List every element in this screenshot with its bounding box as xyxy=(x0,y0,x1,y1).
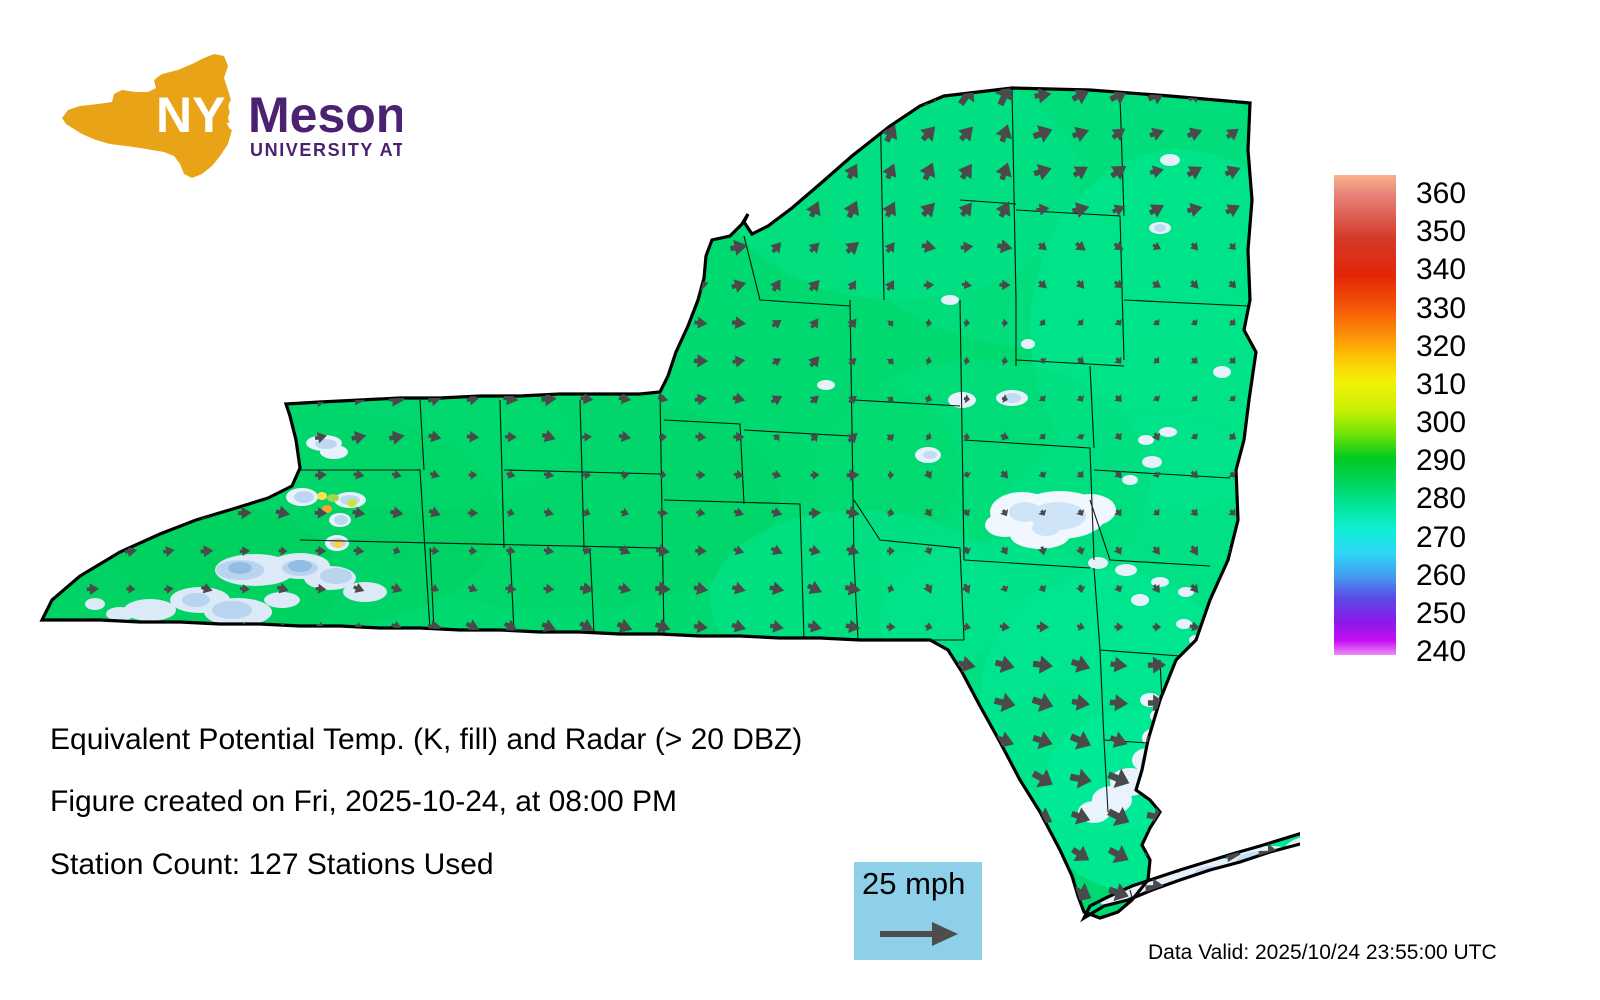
wind-arrow xyxy=(615,656,635,675)
wind-arrow xyxy=(1184,807,1205,827)
wind-arrow xyxy=(311,352,331,371)
wind-arrow xyxy=(540,276,559,294)
nys-mesonet-logo: NYS Mesonet UNIVERSITY AT ALBANY xyxy=(52,52,402,182)
wind-arrow xyxy=(1297,809,1300,830)
wind-arrow xyxy=(1182,691,1208,715)
wind-arrow xyxy=(575,236,598,258)
wind-arrow xyxy=(276,658,291,672)
wind-arrow xyxy=(615,200,635,219)
wind-arrow xyxy=(538,161,560,182)
wind-arrow xyxy=(497,841,525,868)
wind-arrow xyxy=(161,505,177,520)
wind-arrow xyxy=(498,196,525,222)
wind-arrow xyxy=(503,353,520,369)
wind-arrow xyxy=(47,505,63,521)
wind-arrow xyxy=(727,83,752,106)
wind-arrow xyxy=(916,729,941,753)
wind-arrow xyxy=(311,276,331,295)
wind-arrow xyxy=(881,656,900,675)
wind-arrow xyxy=(839,119,867,147)
wind-arrow xyxy=(461,235,485,258)
wind-arrow xyxy=(1182,766,1209,792)
wind-arrow xyxy=(612,83,637,107)
wind-arrow xyxy=(420,157,450,185)
wind-arrow xyxy=(728,654,750,675)
wind-arrow xyxy=(840,82,866,109)
wind-arrow xyxy=(611,879,638,906)
wind-arrow xyxy=(383,195,412,223)
wind-arrow xyxy=(803,767,827,791)
wind-arrow xyxy=(270,196,297,221)
wind-arrow xyxy=(613,691,636,714)
wind-arrow xyxy=(87,773,99,785)
wind-arrow xyxy=(87,697,100,709)
wind-arrow xyxy=(503,657,518,672)
wind-arrow xyxy=(202,660,211,670)
wind-arrow xyxy=(234,389,256,410)
wind-arrow xyxy=(536,83,561,107)
wind-arrow xyxy=(990,879,1020,908)
wind-arrow xyxy=(578,276,596,293)
wind-arrow xyxy=(803,691,828,716)
wind-arrow xyxy=(1222,731,1244,752)
wind-arrow xyxy=(86,544,101,558)
figure-title: Equivalent Potential Temp. (K, fill) and… xyxy=(50,723,802,757)
wind-arrow xyxy=(234,237,255,257)
wind-arrow xyxy=(649,879,677,906)
wind-arrow xyxy=(39,193,71,225)
wind-arrow xyxy=(876,802,907,832)
wind-arrow xyxy=(688,82,714,107)
wind-arrow xyxy=(421,81,450,109)
colorbar-tick-290: 290 xyxy=(1416,446,1466,476)
wind-arrow xyxy=(727,691,751,715)
wind-arrow xyxy=(88,660,98,671)
colorbar-tick-250: 250 xyxy=(1416,599,1466,629)
wind-arrow xyxy=(85,429,101,444)
wind-arrow xyxy=(459,82,487,108)
wind-arrow xyxy=(1027,840,1058,871)
wind-arrow xyxy=(576,161,598,182)
wind-arrow xyxy=(426,694,444,711)
wind-arrow xyxy=(840,653,866,678)
wind-speed-legend-label: 25 mph xyxy=(862,866,965,902)
wind-arrow xyxy=(117,272,144,298)
wind-arrow xyxy=(575,122,599,144)
wind-arrow xyxy=(1028,878,1058,907)
wind-arrow xyxy=(311,694,330,713)
wind-arrow xyxy=(727,121,752,145)
wind-arrow xyxy=(840,766,867,792)
wind-arrow xyxy=(88,622,99,633)
wind-arrow xyxy=(81,311,105,334)
wind-arrow xyxy=(991,842,1019,868)
wind-arrow xyxy=(802,804,828,830)
wind-arrow-icon xyxy=(880,918,960,950)
wind-arrow xyxy=(1182,877,1206,900)
wind-arrow xyxy=(803,121,827,146)
wind-arrow xyxy=(161,468,176,482)
wind-arrow xyxy=(1297,877,1300,898)
wind-arrow xyxy=(876,79,907,110)
logo-mesonet-text: Mesonet xyxy=(248,87,402,143)
wind-arrow xyxy=(1222,810,1242,829)
wind-arrow xyxy=(540,314,558,331)
wind-arrow xyxy=(762,156,791,186)
wind-arrow xyxy=(878,766,905,792)
wind-arrow xyxy=(350,352,368,369)
wind-arrow xyxy=(918,692,941,714)
wind-arrow xyxy=(651,843,676,867)
wind-arrow xyxy=(804,654,826,675)
wind-arrow xyxy=(727,160,751,182)
wind-arrow xyxy=(1145,768,1169,791)
wind-arrow xyxy=(725,879,753,906)
wind-arrow xyxy=(118,235,143,259)
wind-arrow xyxy=(574,196,601,221)
wind-arrow xyxy=(427,353,444,369)
wind-arrow xyxy=(689,159,713,182)
wind-arrow xyxy=(81,235,105,259)
wind-arrow xyxy=(1223,880,1241,897)
wind-arrow xyxy=(238,697,252,710)
wind-arrow xyxy=(496,879,525,908)
wind-arrow xyxy=(426,277,444,294)
wind-arrow xyxy=(764,766,791,792)
wind-arrow xyxy=(386,313,407,333)
wind-speed-legend: 25 mph xyxy=(854,862,982,960)
wind-arrow xyxy=(195,235,220,259)
wind-arrow xyxy=(879,692,902,714)
wind-arrow xyxy=(1183,882,1207,905)
wind-arrow xyxy=(803,881,827,904)
wind-arrow xyxy=(464,353,481,369)
wind-arrow xyxy=(387,238,406,256)
wind-arrow xyxy=(1183,653,1208,677)
wind-arrow xyxy=(157,882,180,904)
wind-arrow xyxy=(764,804,790,829)
wind-arrow xyxy=(274,352,292,370)
wind-arrow xyxy=(538,654,560,675)
logo-subtitle: UNIVERSITY AT ALBANY xyxy=(250,140,402,160)
wind-arrow xyxy=(878,728,904,753)
wind-arrow xyxy=(724,841,753,869)
wind-arrow xyxy=(234,274,257,296)
wind-arrow xyxy=(198,428,216,445)
wind-arrow xyxy=(651,692,674,715)
wind-arrow xyxy=(540,353,557,369)
wind-arrow xyxy=(276,468,290,482)
wind-arrow xyxy=(656,278,671,292)
wind-arrow xyxy=(762,80,791,109)
wind-arrow xyxy=(538,693,559,714)
colorbar-tick-260: 260 xyxy=(1416,561,1466,591)
wind-arrow xyxy=(953,765,981,792)
wind-arrow xyxy=(501,238,521,257)
wind-arrow xyxy=(1222,769,1243,789)
wind-arrow xyxy=(613,122,636,144)
wind-arrow xyxy=(195,273,219,296)
wind-arrow xyxy=(424,123,446,144)
wind-arrow xyxy=(121,351,141,371)
wind-arrow xyxy=(1223,693,1244,713)
wind-arrow xyxy=(422,880,449,907)
wind-arrow xyxy=(576,654,598,675)
wind-arrow xyxy=(48,545,62,558)
wind-arrow xyxy=(728,768,750,789)
wind-arrow xyxy=(42,235,68,260)
wind-arrow xyxy=(537,198,560,220)
wind-arrow xyxy=(424,312,446,333)
station-count-label: Station Count: 127 Stations Used xyxy=(50,848,494,882)
wind-arrow xyxy=(388,656,406,674)
wind-arrow xyxy=(127,622,135,631)
wind-arrow xyxy=(156,273,182,298)
colorbar-tick-330: 330 xyxy=(1416,294,1466,324)
wind-arrow xyxy=(153,193,185,224)
wind-arrow xyxy=(426,656,444,673)
colorbar-tick-280: 280 xyxy=(1416,484,1466,514)
wind-arrow xyxy=(617,315,634,331)
wind-arrow xyxy=(764,120,790,146)
colorbar: 360350340330320310300290280270260250240 xyxy=(1334,175,1574,660)
wind-arrow xyxy=(536,121,561,144)
wind-arrow xyxy=(499,83,524,106)
wind-arrow xyxy=(349,314,368,333)
wind-arrow xyxy=(236,429,254,446)
wind-arrow xyxy=(237,467,254,483)
colorbar-tick-300: 300 xyxy=(1416,408,1466,438)
wind-arrow xyxy=(616,276,634,293)
wind-arrow xyxy=(579,315,596,331)
wind-arrow xyxy=(498,120,524,145)
colorbar-gradient xyxy=(1334,175,1396,655)
wind-arrow xyxy=(45,883,65,902)
wind-arrow xyxy=(274,277,291,293)
wind-arrow xyxy=(117,196,145,223)
wind-arrow xyxy=(158,350,180,372)
wind-arrow xyxy=(615,237,635,257)
wind-arrow xyxy=(652,199,674,220)
wind-arrow xyxy=(459,120,487,147)
wind-arrow xyxy=(163,697,176,709)
wind-arrow xyxy=(310,236,333,257)
wind-arrow xyxy=(234,312,256,334)
wind-arrow xyxy=(1226,621,1239,633)
wind-arrow xyxy=(200,468,215,482)
wind-arrow xyxy=(240,659,250,670)
wind-arrow xyxy=(195,312,219,335)
wind-arrow xyxy=(1183,809,1206,830)
wind-arrow xyxy=(44,312,67,334)
wind-arrow xyxy=(348,275,369,295)
wind-arrow xyxy=(161,430,176,444)
wind-arrow xyxy=(50,698,60,709)
wind-arrow xyxy=(691,655,711,675)
wind-arrow xyxy=(84,504,102,521)
wind-arrow xyxy=(347,235,372,259)
wind-arrow xyxy=(120,312,143,334)
wind-arrow xyxy=(310,312,333,334)
wind-arrow xyxy=(689,198,713,221)
wind-arrow xyxy=(460,881,485,906)
wind-arrow xyxy=(953,727,981,754)
logo-nys-text: NYS xyxy=(156,87,259,143)
wind-arrow xyxy=(271,312,294,335)
wind-arrow xyxy=(764,880,791,907)
wind-arrow xyxy=(461,198,484,220)
colorbar-tick-350: 350 xyxy=(1416,217,1466,247)
wind-arrow xyxy=(686,878,716,908)
wind-arrow xyxy=(198,391,215,407)
wind-arrow xyxy=(534,878,564,908)
wind-arrow xyxy=(83,351,103,371)
wind-arrow xyxy=(46,390,64,407)
wind-arrow xyxy=(503,316,518,330)
wind-arrow xyxy=(800,80,830,110)
wind-arrow xyxy=(78,271,107,300)
figure-created-timestamp: Figure created on Fri, 2025-10-24, at 08… xyxy=(50,785,677,819)
wind-arrow xyxy=(766,693,787,713)
wind-arrow xyxy=(347,882,371,905)
wind-arrow xyxy=(1220,880,1247,906)
wind-arrow xyxy=(572,878,601,907)
wind-arrow xyxy=(618,355,631,367)
wind-arrow xyxy=(232,196,259,221)
wind-arrow xyxy=(47,468,63,483)
wind-arrow xyxy=(158,236,181,258)
wind-arrow xyxy=(689,768,712,791)
wind-arrow xyxy=(272,882,294,903)
wind-arrow xyxy=(539,238,559,257)
wind-arrow xyxy=(537,843,561,867)
colorbar-tick-320: 320 xyxy=(1416,332,1466,362)
wind-arrow xyxy=(611,842,638,869)
wind-arrow xyxy=(235,352,254,370)
wind-arrow xyxy=(42,272,69,298)
wind-arrow xyxy=(498,159,524,184)
wind-arrow xyxy=(383,879,411,906)
wind-arrow xyxy=(915,803,944,831)
wind-arrow xyxy=(656,240,671,254)
wind-arrow xyxy=(842,692,864,713)
wind-arrow xyxy=(44,426,67,448)
wind-arrow xyxy=(954,804,980,829)
wind-arrow xyxy=(691,123,711,142)
wind-arrow xyxy=(464,656,482,674)
wind-arrow xyxy=(501,694,520,713)
data-valid-timestamp: Data Valid: 2025/10/24 23:55:00 UTC xyxy=(1148,941,1497,965)
wind-arrow xyxy=(84,467,102,484)
wind-arrow xyxy=(160,390,179,408)
wind-arrow xyxy=(652,123,674,144)
wind-arrow xyxy=(200,696,214,710)
wind-arrow xyxy=(613,160,636,182)
wind-arrow xyxy=(272,237,294,257)
wind-arrow xyxy=(124,696,139,710)
wind-arrow xyxy=(47,620,62,635)
colorbar-tick-310: 310 xyxy=(1416,370,1466,400)
wind-arrow xyxy=(461,160,485,183)
wind-arrow xyxy=(121,389,142,409)
wind-arrow xyxy=(502,277,519,293)
wind-arrow xyxy=(389,354,404,368)
wind-arrow xyxy=(802,842,829,868)
wind-arrow xyxy=(48,772,63,786)
colorbar-tick-270: 270 xyxy=(1416,523,1466,553)
wind-arrow xyxy=(763,842,791,869)
wind-arrow xyxy=(574,842,600,868)
wind-arrow xyxy=(464,694,482,712)
wind-arrow xyxy=(197,352,217,371)
wind-arrow xyxy=(122,467,139,483)
wind-arrow xyxy=(656,316,670,329)
wind-arrow xyxy=(79,196,107,223)
wind-arrow xyxy=(1181,728,1209,755)
wind-arrow xyxy=(123,885,139,901)
wind-arrow xyxy=(275,695,291,710)
colorbar-tick-340: 340 xyxy=(1416,255,1466,285)
wind-arrow xyxy=(274,428,293,446)
wind-arrow xyxy=(767,656,786,675)
wind-arrow xyxy=(840,805,865,829)
wind-arrow xyxy=(804,730,826,751)
wind-arrow xyxy=(82,882,104,903)
wind-arrow xyxy=(316,660,326,670)
wind-arrow xyxy=(193,196,221,223)
wind-arrow xyxy=(422,197,448,222)
wind-arrow xyxy=(915,765,943,793)
wind-arrow xyxy=(195,882,218,904)
wind-arrow xyxy=(649,82,677,109)
wind-arrow xyxy=(351,696,366,710)
colorbar-tick-360: 360 xyxy=(1416,179,1466,209)
wind-arrow xyxy=(122,429,140,446)
wind-arrow xyxy=(465,277,482,292)
wind-arrow xyxy=(348,198,371,219)
wind-arrow xyxy=(125,507,138,519)
wind-arrow xyxy=(991,803,1019,830)
wind-arrow xyxy=(574,83,600,107)
wind-arrow xyxy=(655,657,672,673)
wind-arrow xyxy=(1224,656,1243,674)
wind-arrow xyxy=(1258,809,1282,832)
wind-arrow xyxy=(352,658,367,672)
wind-arrow xyxy=(916,653,941,677)
wind-arrow xyxy=(1226,581,1241,596)
wind-arrow xyxy=(655,353,671,368)
wind-arrow xyxy=(690,806,712,828)
wind-arrow xyxy=(580,355,594,368)
wind-arrow xyxy=(465,315,482,331)
wind-arrow xyxy=(125,659,138,671)
wind-arrow xyxy=(688,842,714,868)
wind-arrow xyxy=(83,389,103,408)
wind-arrow xyxy=(578,694,597,712)
wind-arrow xyxy=(45,351,66,371)
wind-arrow xyxy=(234,882,256,903)
wind-arrow xyxy=(48,659,61,672)
wind-arrow xyxy=(308,881,333,905)
wind-arrow xyxy=(307,195,336,223)
wind-arrow xyxy=(161,658,176,673)
wind-arrow xyxy=(157,312,180,334)
colorbar-tick-240: 240 xyxy=(1416,637,1466,667)
wind-arrow xyxy=(726,804,752,830)
wind-arrow xyxy=(1219,804,1246,830)
wind-arrow xyxy=(688,691,713,716)
wind-arrow xyxy=(387,276,407,295)
